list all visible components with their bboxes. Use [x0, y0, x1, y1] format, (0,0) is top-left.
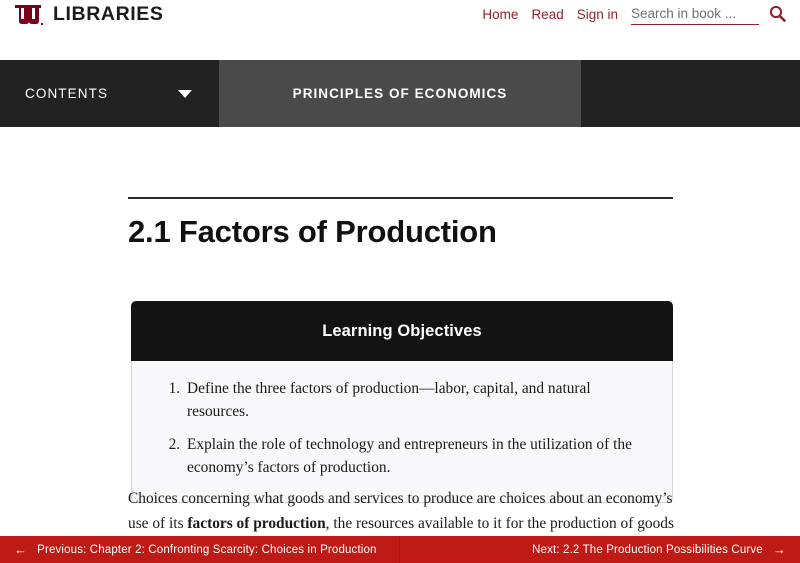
book-title-tab[interactable]: PRINCIPLES OF ECONOMICS: [219, 60, 581, 127]
contents-toggle-button[interactable]: CONTENTS: [0, 60, 219, 127]
book-navigation-bar: CONTENTS PRINCIPLES OF ECONOMICS: [0, 60, 800, 127]
learning-objectives-title: Learning Objectives: [322, 322, 482, 341]
main-content: 2.1 Factors of Production Learning Objec…: [0, 127, 800, 536]
search-icon: [769, 5, 786, 25]
umn-m-logo-icon: [14, 3, 44, 27]
nav-link-home[interactable]: Home: [482, 8, 518, 22]
search-form: [631, 5, 786, 25]
next-chapter-link[interactable]: Next: 2.2 The Production Possibilities C…: [400, 536, 800, 563]
contents-label: CONTENTS: [25, 86, 108, 101]
learning-objectives-list: Define the three factors of production—l…: [158, 377, 646, 480]
page-title: 2.1 Factors of Production: [128, 197, 673, 249]
nav-link-sign-in[interactable]: Sign in: [577, 8, 618, 22]
learning-objectives-header: Learning Objectives: [131, 301, 673, 361]
bottom-navigation-bar: ← Previous: Chapter 2: Confronting Scarc…: [0, 536, 800, 563]
arrow-left-icon: ←: [14, 543, 27, 556]
previous-chapter-label: Previous: Chapter 2: Confronting Scarcit…: [37, 544, 376, 556]
previous-chapter-link[interactable]: ← Previous: Chapter 2: Confronting Scarc…: [0, 536, 400, 563]
top-navigation: Home Read Sign in: [482, 0, 786, 30]
book-title-label: PRINCIPLES OF ECONOMICS: [293, 86, 508, 101]
brand-name: LIBRARIES: [53, 5, 164, 25]
learning-objectives-box: Learning Objectives Define the three fac…: [131, 301, 673, 503]
nav-link-read[interactable]: Read: [531, 8, 563, 22]
search-submit-button[interactable]: [769, 5, 786, 25]
chevron-down-icon: [178, 90, 192, 98]
next-chapter-label: Next: 2.2 The Production Possibilities C…: [532, 544, 763, 556]
arrow-right-icon: →: [773, 543, 786, 556]
search-input[interactable]: [631, 6, 759, 25]
masthead: LIBRARIES Home Read Sign in: [0, 0, 800, 60]
brand-logo-link[interactable]: LIBRARIES: [14, 0, 164, 30]
list-item: Define the three factors of production—l…: [184, 377, 646, 424]
body-paragraph: Choices concerning what goods and servic…: [128, 487, 676, 536]
paragraph-bold-term: factors of production: [187, 515, 325, 532]
learning-objectives-body: Define the three factors of production—l…: [131, 361, 673, 503]
list-item: Explain the role of technology and entre…: [184, 433, 646, 480]
